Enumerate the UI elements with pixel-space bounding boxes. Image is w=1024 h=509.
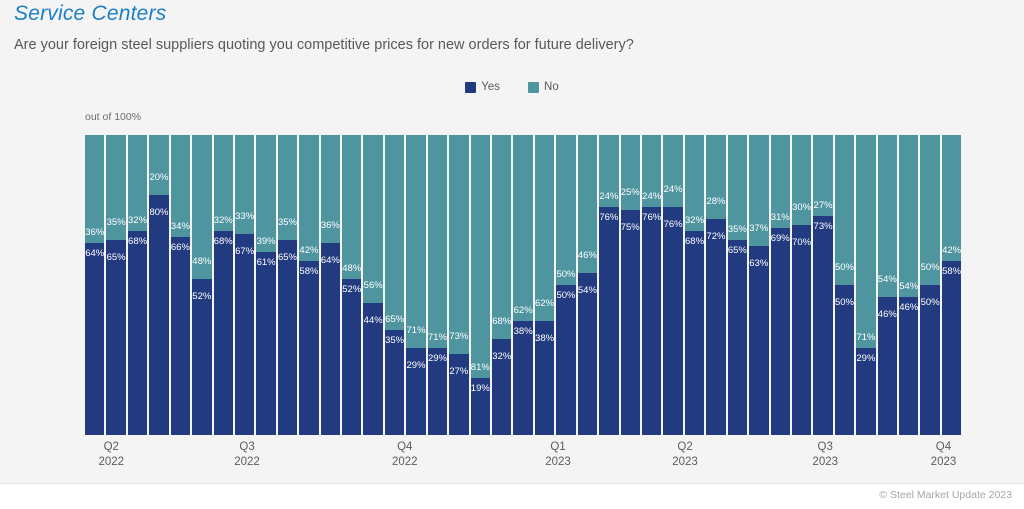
- bar-segment-yes[interactable]: 46%: [878, 297, 897, 435]
- bar-column[interactable]: 36%64%: [85, 135, 104, 435]
- x-axis-tick-year: 2023: [545, 455, 571, 470]
- bar-segment-yes[interactable]: 63%: [749, 246, 768, 435]
- bar-segment-no-label: 30%: [792, 203, 811, 213]
- bar-segment-no[interactable]: 50%: [835, 135, 854, 285]
- bar-segment-yes[interactable]: 76%: [599, 207, 618, 435]
- x-axis-tick-year: 2023: [931, 455, 957, 470]
- x-axis-tick-year: 2022: [98, 455, 124, 470]
- chart-plot-area: 36%64%35%65%32%68%20%80%34%66%48%52%32%6…: [85, 135, 961, 435]
- x-axis-tick-year: 2023: [812, 455, 838, 470]
- bar-segment-no[interactable]: 71%: [428, 135, 447, 348]
- axis-note: out of 100%: [85, 111, 141, 123]
- bar-column[interactable]: 24%76%: [663, 135, 682, 435]
- x-axis-tick: Q42022: [392, 440, 418, 470]
- bar-segment-no[interactable]: 73%: [449, 135, 468, 354]
- bar-segment-yes[interactable]: 46%: [899, 297, 918, 435]
- bar-segment-yes-label: 32%: [492, 352, 511, 362]
- x-axis-tick: Q42023: [931, 440, 957, 470]
- bar-column[interactable]: 27%73%: [813, 135, 832, 435]
- bar-segment-yes[interactable]: 76%: [642, 207, 661, 435]
- bar-column[interactable]: 71%29%: [406, 135, 425, 435]
- bar-segment-yes-label: 65%: [278, 253, 297, 263]
- x-axis-tick: Q32022: [234, 440, 260, 470]
- bar-segment-no-label: 36%: [85, 228, 104, 238]
- bar-segment-yes[interactable]: 32%: [492, 339, 511, 435]
- bar-segment-no[interactable]: 48%: [192, 135, 211, 279]
- bar-segment-yes-label: 72%: [706, 232, 725, 242]
- bar-segment-yes-label: 76%: [642, 213, 661, 223]
- bar-column[interactable]: 24%76%: [599, 135, 618, 435]
- bar-segment-no-label: 37%: [749, 224, 768, 234]
- bar-segment-no[interactable]: 35%: [278, 135, 297, 240]
- bar-segment-no[interactable]: 33%: [235, 135, 254, 234]
- bar-segment-yes[interactable]: 73%: [813, 216, 832, 435]
- bar-segment-yes-label: 58%: [942, 267, 961, 277]
- bar-segment-no[interactable]: 81%: [471, 135, 490, 378]
- bar-segment-no-label: 35%: [728, 225, 747, 235]
- bar-column[interactable]: 73%27%: [449, 135, 468, 435]
- bar-segment-no[interactable]: 71%: [406, 135, 425, 348]
- x-axis-tick-quarter: Q3: [812, 440, 838, 455]
- x-axis-tick-year: 2022: [392, 455, 418, 470]
- bar-segment-yes[interactable]: 68%: [685, 231, 704, 435]
- bar-column[interactable]: 37%63%: [749, 135, 768, 435]
- bar-column[interactable]: 50%50%: [835, 135, 854, 435]
- bar-segment-yes-label: 50%: [835, 298, 854, 308]
- legend-swatch-yes: [465, 82, 476, 93]
- bar-segment-yes-label: 68%: [214, 237, 233, 247]
- x-axis-tick: Q22022: [98, 440, 124, 470]
- bar-segment-yes[interactable]: 44%: [363, 303, 382, 435]
- bar-segment-no[interactable]: 25%: [621, 135, 640, 210]
- bar-column[interactable]: 81%19%: [471, 135, 490, 435]
- x-axis-tick: Q22023: [672, 440, 698, 470]
- bar-segment-no-label: 42%: [942, 246, 961, 256]
- bar-segment-no-label: 24%: [599, 192, 618, 202]
- bar-column[interactable]: 48%52%: [342, 135, 361, 435]
- bar-column[interactable]: 48%52%: [192, 135, 211, 435]
- bar-segment-no-label: 33%: [235, 212, 254, 222]
- x-axis-tick-year: 2022: [234, 455, 260, 470]
- bar-segment-yes-label: 50%: [556, 291, 575, 301]
- x-axis-tick: Q12023: [545, 440, 571, 470]
- bar-column[interactable]: 28%72%: [706, 135, 725, 435]
- bar-segment-yes[interactable]: 67%: [235, 234, 254, 435]
- bar-segment-no[interactable]: 65%: [385, 135, 404, 330]
- bar-segment-yes[interactable]: 75%: [621, 210, 640, 435]
- bar-segment-yes[interactable]: 58%: [299, 261, 318, 435]
- x-axis-tick-quarter: Q2: [98, 440, 124, 455]
- bar-segment-yes[interactable]: 54%: [578, 273, 597, 435]
- bar-segment-no[interactable]: 24%: [663, 135, 682, 207]
- bar-segment-yes-label: 64%: [321, 256, 340, 266]
- bar-segment-no-label: 20%: [149, 173, 168, 183]
- bar-segment-no-label: 56%: [364, 281, 383, 291]
- legend-swatch-no: [528, 82, 539, 93]
- bar-segment-yes-label: 64%: [85, 249, 104, 259]
- bar-segment-no-label: 24%: [642, 192, 661, 202]
- bar-segment-no-label: 81%: [471, 363, 490, 373]
- bar-column[interactable]: 34%66%: [171, 135, 190, 435]
- bar-segment-no[interactable]: 62%: [535, 135, 554, 321]
- bar-segment-yes[interactable]: 65%: [278, 240, 297, 435]
- bar-segment-no[interactable]: 54%: [878, 135, 897, 297]
- bar-segment-no[interactable]: 71%: [856, 135, 875, 348]
- legend-label: No: [544, 81, 559, 93]
- bar-segment-no[interactable]: 31%: [771, 135, 790, 228]
- bar-segment-yes-label: 44%: [364, 316, 383, 326]
- bar-segment-no-label: 68%: [492, 317, 511, 327]
- bar-segment-yes-label: 50%: [921, 298, 940, 308]
- bar-segment-yes-label: 68%: [685, 237, 704, 247]
- bar-segment-yes-label: 65%: [728, 246, 747, 256]
- bar-column[interactable]: 32%68%: [685, 135, 704, 435]
- x-axis: Q22022Q32022Q42022Q12023Q22023Q32023Q420…: [85, 440, 961, 482]
- bar-segment-no-label: 31%: [771, 213, 790, 223]
- page-title: Service Centers: [14, 2, 166, 26]
- bar-segment-yes-label: 29%: [856, 354, 875, 364]
- bar-segment-no[interactable]: 32%: [685, 135, 704, 231]
- bar-segment-no-label: 54%: [878, 275, 897, 285]
- bar-segment-yes-label: 69%: [771, 234, 790, 244]
- header-band: Service Centers Are your foreign steel s…: [0, 0, 1024, 68]
- bar-column[interactable]: 65%35%: [385, 135, 404, 435]
- bar-segment-yes-label: 54%: [578, 286, 597, 296]
- bar-segment-yes-label: 80%: [149, 208, 168, 218]
- bar-segment-no-label: 65%: [385, 315, 404, 325]
- bar-segment-no-label: 36%: [321, 221, 340, 231]
- bar-segment-no-label: 32%: [214, 216, 233, 226]
- bar-segment-yes-label: 63%: [749, 259, 768, 269]
- bar-segment-yes-label: 68%: [128, 237, 147, 247]
- bar-segment-yes[interactable]: 58%: [942, 261, 961, 435]
- bar-segment-yes[interactable]: 29%: [406, 348, 425, 435]
- bar-segment-yes[interactable]: 65%: [106, 240, 125, 435]
- bar-segment-no[interactable]: 20%: [149, 135, 168, 195]
- bar-segment-yes-label: 66%: [171, 243, 190, 253]
- bar-column[interactable]: 54%46%: [878, 135, 897, 435]
- bar-segment-no[interactable]: 62%: [513, 135, 532, 321]
- bar-column[interactable]: 20%80%: [149, 135, 168, 435]
- bar-segment-yes[interactable]: 52%: [192, 279, 211, 435]
- bar-column[interactable]: 35%65%: [278, 135, 297, 435]
- bar-segment-no-label: 48%: [342, 264, 361, 274]
- bar-segment-no-label: 24%: [664, 185, 683, 195]
- bar-segment-no-label: 25%: [621, 188, 640, 198]
- bar-segment-no-label: 39%: [257, 237, 276, 247]
- bar-segment-no[interactable]: 68%: [492, 135, 511, 339]
- bar-segment-yes[interactable]: 19%: [471, 378, 490, 435]
- bar-segment-no[interactable]: 36%: [85, 135, 104, 243]
- bar-segment-no[interactable]: 56%: [363, 135, 382, 303]
- bar-segment-yes-label: 29%: [428, 354, 447, 364]
- bar-segment-no-label: 50%: [556, 270, 575, 280]
- bar-segment-no-label: 62%: [535, 299, 554, 309]
- bar-column[interactable]: 71%29%: [856, 135, 875, 435]
- x-axis-tick-quarter: Q4: [392, 440, 418, 455]
- bar-segment-no[interactable]: 36%: [321, 135, 340, 243]
- bar-column[interactable]: 50%50%: [920, 135, 939, 435]
- bar-segment-no[interactable]: 48%: [342, 135, 361, 279]
- bar-segment-yes-label: 70%: [792, 238, 811, 248]
- bar-segment-yes[interactable]: 61%: [256, 252, 275, 435]
- x-axis-tick-quarter: Q2: [672, 440, 698, 455]
- bar-segment-no-label: 73%: [449, 332, 468, 342]
- bar-segment-yes-label: 61%: [257, 258, 276, 268]
- bar-segment-yes[interactable]: 29%: [856, 348, 875, 435]
- copyright-notice: © Steel Market Update 2023: [879, 489, 1012, 501]
- bar-segment-no-label: 48%: [192, 257, 211, 267]
- bar-column[interactable]: 25%75%: [621, 135, 640, 435]
- bar-column[interactable]: 68%32%: [492, 135, 511, 435]
- bar-segment-no-label: 32%: [685, 216, 704, 226]
- x-axis-tick-quarter: Q1: [545, 440, 571, 455]
- bar-segment-no-label: 32%: [128, 216, 147, 226]
- bar-column[interactable]: 42%58%: [299, 135, 318, 435]
- bar-segment-yes-label: 52%: [192, 292, 211, 302]
- bar-segment-no[interactable]: 24%: [642, 135, 661, 207]
- bar-column[interactable]: 71%29%: [428, 135, 447, 435]
- bar-segment-yes[interactable]: 50%: [556, 285, 575, 435]
- bar-segment-no-label: 71%: [407, 326, 426, 336]
- bar-segment-yes-label: 27%: [449, 367, 468, 377]
- bar-segment-no[interactable]: 32%: [128, 135, 147, 231]
- bar-segment-no-label: 34%: [171, 222, 190, 232]
- bar-column[interactable]: 24%76%: [642, 135, 661, 435]
- bar-segment-yes[interactable]: 68%: [214, 231, 233, 435]
- bar-segment-no[interactable]: 30%: [792, 135, 811, 225]
- bar-segment-no[interactable]: 42%: [299, 135, 318, 261]
- bar-segment-no-label: 42%: [299, 246, 318, 256]
- bar-column[interactable]: 46%54%: [578, 135, 597, 435]
- bar-column[interactable]: 56%44%: [363, 135, 382, 435]
- survey-question: Are your foreign steel suppliers quoting…: [14, 37, 634, 53]
- bar-segment-no-label: 71%: [856, 333, 875, 343]
- bar-segment-yes[interactable]: 27%: [449, 354, 468, 435]
- bar-segment-yes[interactable]: 66%: [171, 237, 190, 435]
- bar-column[interactable]: 33%67%: [235, 135, 254, 435]
- x-axis-tick-quarter: Q3: [234, 440, 260, 455]
- bar-segment-yes[interactable]: 50%: [835, 285, 854, 435]
- bar-segment-yes-label: 76%: [664, 220, 683, 230]
- bar-column[interactable]: 42%58%: [942, 135, 961, 435]
- bar-column[interactable]: 32%68%: [214, 135, 233, 435]
- bar-segment-yes[interactable]: 50%: [920, 285, 939, 435]
- bar-segment-no-label: 27%: [814, 201, 833, 211]
- bar-column[interactable]: 30%70%: [792, 135, 811, 435]
- bar-column[interactable]: 62%38%: [535, 135, 554, 435]
- x-axis-tick: Q32023: [812, 440, 838, 470]
- bar-segment-yes[interactable]: 65%: [728, 240, 747, 435]
- bar-segment-yes-label: 46%: [878, 310, 897, 320]
- bar-segment-no-label: 50%: [921, 263, 940, 273]
- bar-segment-no-label: 54%: [899, 282, 918, 292]
- bar-segment-yes[interactable]: 70%: [792, 225, 811, 435]
- legend-item-yes[interactable]: Yes: [465, 81, 500, 93]
- bar-segment-yes-label: 73%: [814, 222, 833, 232]
- bar-column[interactable]: 35%65%: [106, 135, 125, 435]
- bar-segment-no[interactable]: 50%: [556, 135, 575, 285]
- bar-segment-yes-label: 67%: [235, 247, 254, 257]
- bar-column[interactable]: 36%64%: [321, 135, 340, 435]
- bar-column[interactable]: 54%46%: [899, 135, 918, 435]
- bar-segment-yes[interactable]: 52%: [342, 279, 361, 435]
- bar-segment-yes[interactable]: 29%: [428, 348, 447, 435]
- bar-segment-no[interactable]: 50%: [920, 135, 939, 285]
- bar-segment-yes[interactable]: 35%: [385, 330, 404, 435]
- chart-legend: YesNo: [0, 81, 1024, 93]
- bar-segment-yes[interactable]: 38%: [513, 321, 532, 435]
- bar-segment-yes-label: 38%: [535, 334, 554, 344]
- x-axis-tick-year: 2023: [672, 455, 698, 470]
- bar-segment-no[interactable]: 46%: [578, 135, 597, 273]
- bar-segment-no-label: 50%: [835, 263, 854, 273]
- bar-segment-yes[interactable]: 76%: [663, 207, 682, 435]
- bar-segment-yes[interactable]: 38%: [535, 321, 554, 435]
- bar-segment-no-label: 71%: [428, 333, 447, 343]
- bar-segment-no[interactable]: 39%: [256, 135, 275, 252]
- bar-segment-no[interactable]: 54%: [899, 135, 918, 297]
- bar-column[interactable]: 32%68%: [128, 135, 147, 435]
- bar-segment-yes-label: 38%: [514, 327, 533, 337]
- bar-segment-no-label: 62%: [514, 306, 533, 316]
- bar-segment-no-label: 35%: [107, 218, 126, 228]
- bar-segment-no[interactable]: 35%: [106, 135, 125, 240]
- bar-segment-no-label: 28%: [706, 197, 725, 207]
- bar-segment-no[interactable]: 28%: [706, 135, 725, 219]
- legend-item-no[interactable]: No: [528, 81, 559, 93]
- x-axis-tick-quarter: Q4: [931, 440, 957, 455]
- bar-segment-yes-label: 65%: [107, 253, 126, 263]
- bar-segment-yes-label: 46%: [899, 303, 918, 313]
- bar-segment-no[interactable]: 37%: [749, 135, 768, 246]
- bar-segment-yes-label: 58%: [299, 267, 318, 277]
- bar-column[interactable]: 31%69%: [771, 135, 790, 435]
- bar-segment-no[interactable]: 27%: [813, 135, 832, 216]
- bar-segment-yes-label: 52%: [342, 285, 361, 295]
- bar-column[interactable]: 50%50%: [556, 135, 575, 435]
- bar-segment-no-label: 46%: [578, 251, 597, 261]
- bar-segment-no[interactable]: 24%: [599, 135, 618, 207]
- bar-segment-no[interactable]: 34%: [171, 135, 190, 237]
- bar-segment-yes-label: 35%: [385, 336, 404, 346]
- bar-segment-no[interactable]: 32%: [214, 135, 233, 231]
- chart-page: Service Centers Are your foreign steel s…: [0, 0, 1024, 509]
- bar-segment-no[interactable]: 35%: [728, 135, 747, 240]
- bar-column[interactable]: 35%65%: [728, 135, 747, 435]
- bar-segment-yes-label: 19%: [471, 384, 490, 394]
- bar-segment-yes[interactable]: 80%: [149, 195, 168, 435]
- bar-segment-no[interactable]: 42%: [942, 135, 961, 261]
- bar-segment-yes[interactable]: 68%: [128, 231, 147, 435]
- bar-segment-yes-label: 75%: [621, 223, 640, 233]
- bar-segment-yes[interactable]: 69%: [771, 228, 790, 435]
- bar-segment-no-label: 35%: [278, 218, 297, 228]
- bar-segment-yes-label: 29%: [407, 361, 426, 371]
- bar-segment-yes-label: 76%: [599, 213, 618, 223]
- bar-segment-yes[interactable]: 72%: [706, 219, 725, 435]
- footer-band: [0, 484, 1024, 509]
- bar-segment-yes[interactable]: 64%: [321, 243, 340, 435]
- legend-label: Yes: [481, 81, 500, 93]
- bar-segment-yes[interactable]: 64%: [85, 243, 104, 435]
- bar-column[interactable]: 39%61%: [256, 135, 275, 435]
- bar-column[interactable]: 62%38%: [513, 135, 532, 435]
